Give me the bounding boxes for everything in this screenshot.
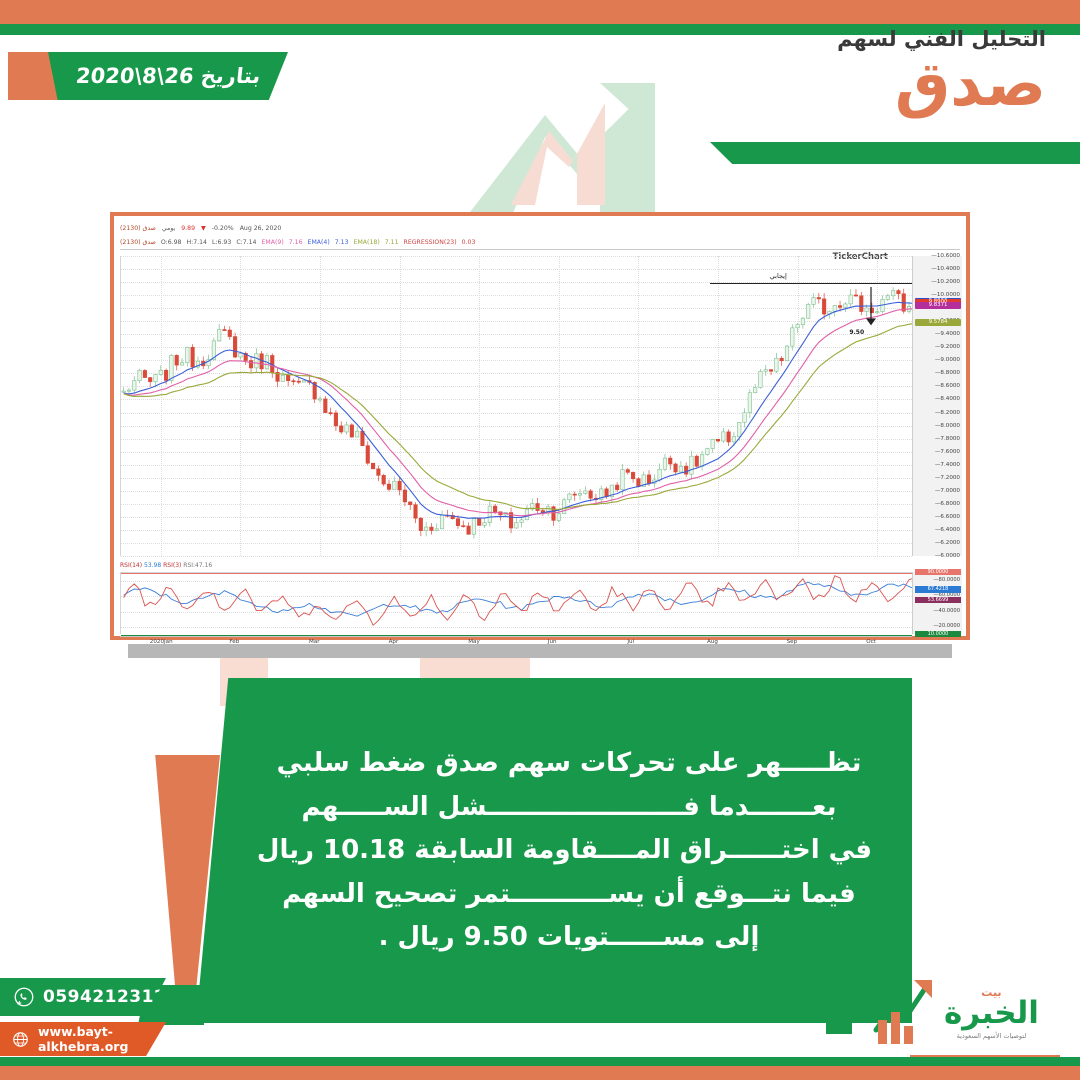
price-axis-tick: —10.6000 bbox=[914, 253, 960, 259]
price-gridline bbox=[121, 556, 912, 557]
down-triangle-icon: ▼ bbox=[201, 225, 206, 232]
ema9-value: 7.16 bbox=[289, 239, 303, 246]
price-axis-tick: —8.0000 bbox=[914, 423, 960, 429]
analysis-line: فيما نتـــوقع أن يســـــــــــتمر تصحيح … bbox=[266, 878, 872, 911]
rsi-axis-tag: 10.0000 bbox=[915, 631, 961, 638]
website-contact[interactable]: www.bayt-alkhebra.org bbox=[0, 1022, 166, 1056]
analysis-line: إلى مســــــتويات 9.50 ريال . bbox=[266, 921, 872, 954]
price-axis: —10.6000—10.4000—10.2000—10.0000—9.8000—… bbox=[912, 256, 962, 556]
price-axis-tick: —8.2000 bbox=[914, 410, 960, 416]
whatsapp-number: 0594212312 bbox=[43, 987, 166, 1007]
rsi14-value: 53.98 bbox=[144, 562, 161, 569]
rsi3-label: RSI(3) bbox=[163, 562, 181, 569]
resistance-line bbox=[710, 283, 917, 284]
chart-low: L:6.93 bbox=[212, 239, 231, 246]
price-axis-tick: —7.4000 bbox=[914, 462, 960, 468]
price-axis-tick: —9.4000 bbox=[914, 331, 960, 337]
price-axis-tick: —6.0000 bbox=[914, 553, 960, 559]
rsi-plot-area bbox=[120, 572, 912, 634]
chart-monitor: صدق (2130) يومي 9.89 ▼ -0.20% Aug 26, 20… bbox=[110, 212, 970, 640]
price-axis-tick: —7.6000 bbox=[914, 449, 960, 455]
chart-open: O:6.98 bbox=[161, 239, 182, 246]
resistance-name-label: إيجابي bbox=[770, 272, 787, 280]
rsi-axis-tick: —80.0000 bbox=[914, 577, 960, 583]
logo-tagline: لتوصيات الأسهم السعودية bbox=[944, 1032, 1039, 1040]
price-axis-tick: —10.2000 bbox=[914, 279, 960, 285]
price-axis-tick: —10.4000 bbox=[914, 266, 960, 272]
chart-symbol-ohlc: صدق (2130) bbox=[120, 239, 156, 246]
rsi-axis-tag: 53.6699 bbox=[915, 597, 961, 604]
price-axis-tag: 9.8371 bbox=[915, 302, 961, 309]
ema9-label: EMA(9) bbox=[262, 239, 284, 246]
price-axis-tick: —6.4000 bbox=[914, 527, 960, 533]
ema4-label: EMA(4) bbox=[308, 239, 330, 246]
chart-change-pct: -0.20% bbox=[212, 225, 234, 232]
analysis-line: بعـــــــدما فــــــــــــــــــــــشل ا… bbox=[266, 791, 872, 824]
price-axis-tick: —8.6000 bbox=[914, 383, 960, 389]
infographic-canvas: بتاريخ 26\8\2020 التحليل الفني لسهم صدق … bbox=[0, 0, 1080, 1080]
ema18-value: 7.11 bbox=[385, 239, 399, 246]
date-badge: بتاريخ 26\8\2020 bbox=[48, 52, 288, 100]
bottom-green-bar bbox=[0, 1057, 1080, 1066]
chart-high: H:7.14 bbox=[186, 239, 207, 246]
chart-header-line-1: صدق (2130) يومي 9.89 ▼ -0.20% Aug 26, 20… bbox=[120, 222, 960, 234]
candlestick-series bbox=[121, 256, 917, 556]
rsi-axis-tick: —40.0000 bbox=[914, 608, 960, 614]
price-axis-tag: 9.5784 bbox=[915, 319, 961, 326]
rsi-axis: —80.0000—60.0000—40.0000—20.000090.00006… bbox=[912, 572, 962, 634]
growth-arrow-secondary-icon bbox=[505, 95, 615, 205]
rsi-axis-tick: —20.0000 bbox=[914, 623, 960, 629]
chart-header-line-2: صدق (2130) O:6.98 H:7.14 L:6.93 C:7.14 E… bbox=[120, 236, 960, 248]
rsi-header: RSI(14) 53.98 RSI(3) RSI:47.16 bbox=[120, 562, 212, 569]
rsi14-label: RSI(14) bbox=[120, 562, 142, 569]
chart-timeframe: يومي bbox=[162, 225, 175, 232]
header-green-rule bbox=[710, 142, 1080, 164]
logo-green-accent bbox=[826, 972, 852, 1034]
chart-panel: صدق (2130) يومي 9.89 ▼ -0.20% Aug 26, 20… bbox=[114, 216, 966, 636]
logo-text: بيت الخبرة لتوصيات الأسهم السعودية bbox=[944, 987, 1039, 1040]
bottom-orange-bar bbox=[0, 1066, 1080, 1080]
price-axis-tick: —6.2000 bbox=[914, 540, 960, 546]
analysis-text-block: تظـــــهر على تحركات سهم صدق ضغط سلبي بع… bbox=[196, 678, 912, 1023]
top-orange-bar bbox=[0, 0, 1080, 24]
price-axis-tick: —8.4000 bbox=[914, 396, 960, 402]
rsi-axis-tag: 67.4218 bbox=[915, 586, 961, 593]
logo-chart-arrow-icon bbox=[872, 976, 938, 1050]
price-axis-tick: —9.2000 bbox=[914, 344, 960, 350]
price-axis-tick: —8.8000 bbox=[914, 370, 960, 376]
rsi-series bbox=[121, 573, 917, 635]
regression-label: REGRESSION(23) bbox=[404, 239, 457, 246]
price-axis-tick: —6.8000 bbox=[914, 501, 960, 507]
monitor-base bbox=[128, 644, 952, 658]
target-arrow-icon bbox=[865, 287, 877, 325]
chart-close: C:7.14 bbox=[236, 239, 256, 246]
price-axis-tick: —7.2000 bbox=[914, 475, 960, 481]
regression-value: 0.03 bbox=[462, 239, 476, 246]
price-axis-tick: —9.0000 bbox=[914, 357, 960, 363]
chart-symbol: صدق (2130) bbox=[120, 225, 156, 232]
price-axis-tick: —6.6000 bbox=[914, 514, 960, 520]
chart-header-divider bbox=[120, 249, 960, 250]
analysis-line: تظـــــهر على تحركات سهم صدق ضغط سلبي bbox=[266, 747, 872, 780]
analysis-line: في اختــــــراق المــــقاومة السابقة 10.… bbox=[266, 834, 872, 867]
logo-main-word: الخبرة bbox=[944, 998, 1039, 1029]
whatsapp-icon bbox=[14, 987, 34, 1007]
ema4-value: 7.13 bbox=[335, 239, 349, 246]
price-axis-tick: —7.8000 bbox=[914, 436, 960, 442]
chart-last-price: 9.89 bbox=[181, 225, 195, 232]
rsi-axis-tag: 90.0000 bbox=[915, 569, 961, 576]
ema18-label: EMA(18) bbox=[354, 239, 380, 246]
price-axis-tick: —7.0000 bbox=[914, 488, 960, 494]
target-value-label: 9.50 bbox=[849, 329, 864, 336]
rsi3-value: RSI:47.16 bbox=[183, 562, 212, 569]
company-logo: بيت الخبرة لتوصيات الأسهم السعودية bbox=[872, 972, 1062, 1054]
chart-date: Aug 26, 2020 bbox=[240, 225, 282, 232]
date-badge-label: بتاريخ 26\8\2020 bbox=[75, 64, 262, 88]
website-url: www.bayt-alkhebra.org bbox=[38, 1024, 166, 1054]
globe-icon bbox=[12, 1031, 29, 1048]
price-plot-area: 10.18إيجابي9.50 bbox=[120, 256, 912, 556]
whatsapp-contact[interactable]: 0594212312 bbox=[0, 978, 166, 1016]
